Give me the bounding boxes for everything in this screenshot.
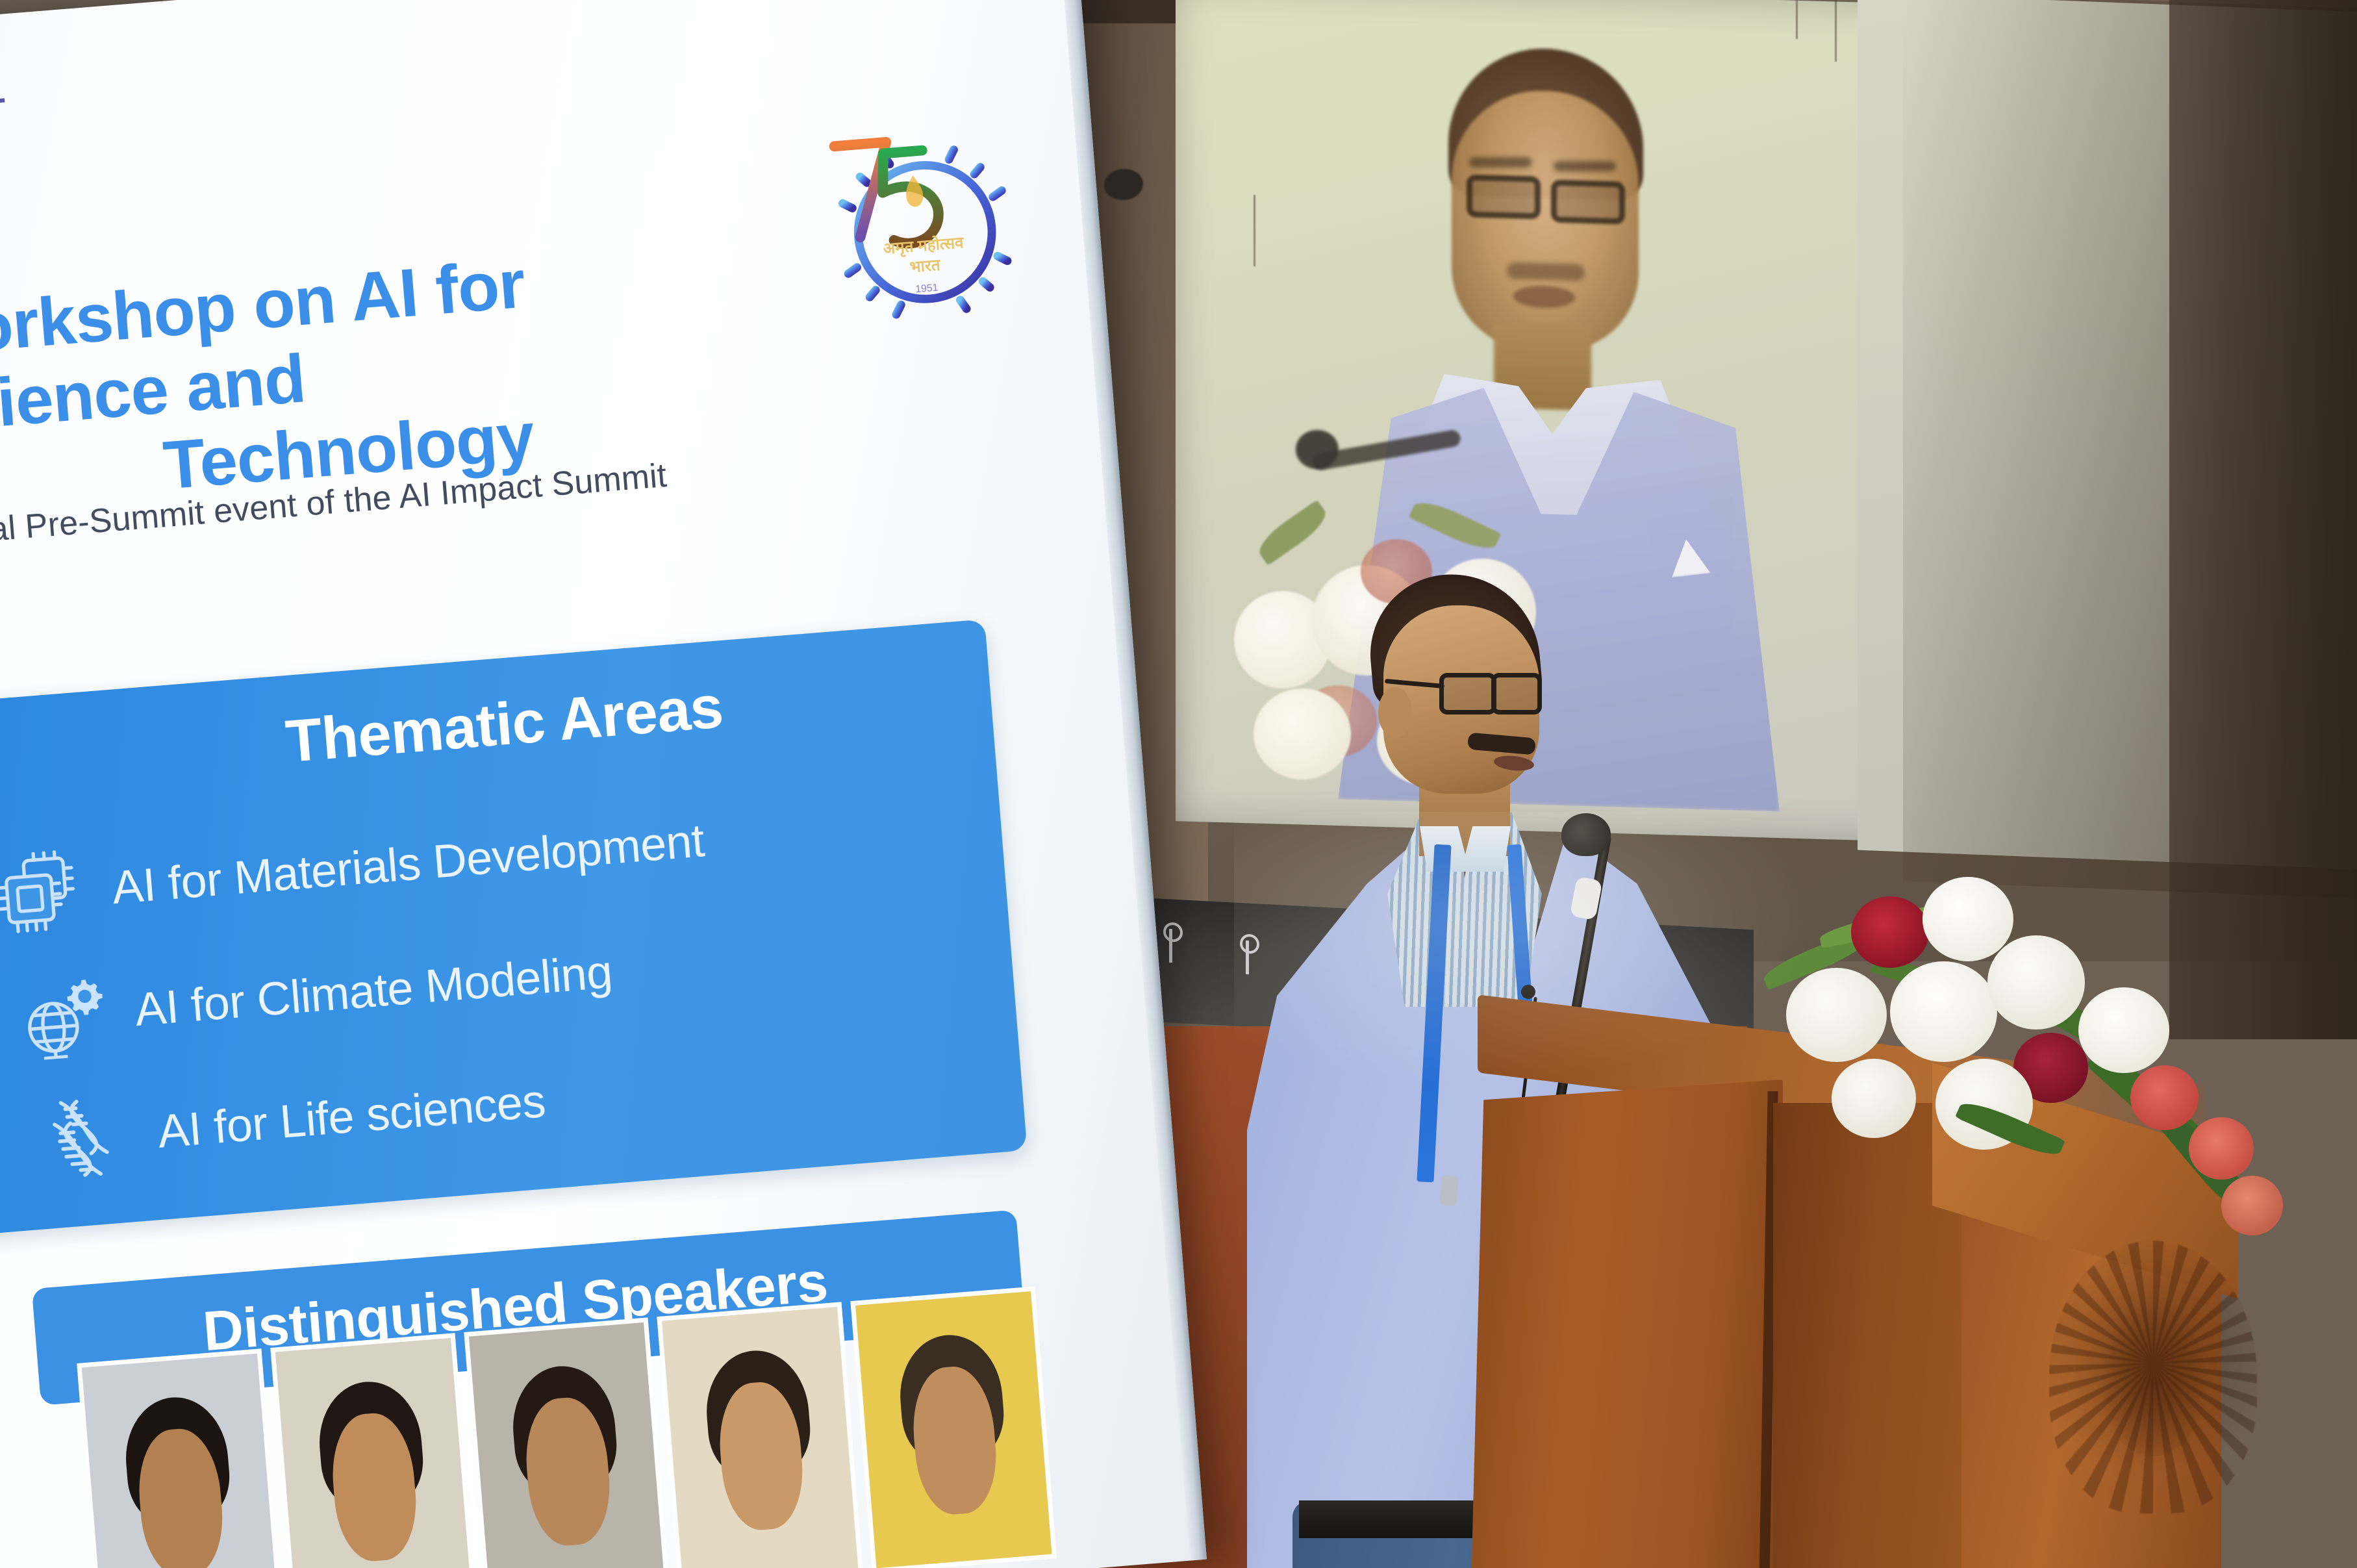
- white-bloom-7: [1832, 1059, 1916, 1138]
- pink-bloom-3: [2221, 1176, 2283, 1235]
- screen-seam-c: [1254, 195, 1255, 266]
- podium-front-left-panel: [1471, 1080, 1783, 1568]
- speaker-photo-1: [77, 1348, 283, 1568]
- logo-year: 1951: [915, 282, 939, 295]
- podium-microphone-head: [1561, 813, 1611, 856]
- skirt-clip-2: [1246, 941, 1249, 974]
- pink-bloom-1: [2130, 1065, 2199, 1130]
- speaker-photo-5: [851, 1286, 1057, 1568]
- projected-glasses-right: [1551, 179, 1625, 224]
- rollup-banner: AI IMPACT SUMMIT सुरक्षित एवं समावेशी सभ…: [0, 0, 1207, 1568]
- podium-carved-emblem-center: [2098, 1294, 2208, 1456]
- thematic-item-life-sciences: AI for Life sciences: [39, 1059, 548, 1183]
- white-bloom-1: [1922, 877, 2013, 961]
- thematic-item-materials: AI for Materials Development: [0, 798, 707, 939]
- thematic-item-label-1: AI for Materials Development: [110, 814, 706, 915]
- thematic-areas-box: Thematic Areas: [0, 619, 1027, 1234]
- photograph-scene: AI IMPACT SUMMIT सुरक्षित एवं समावेशी सभ…: [0, 0, 2357, 1568]
- ais-logo-hindi-line-1: सुरक्षित एवं समावेशी: [0, 127, 142, 170]
- dna-icon: [39, 1093, 130, 1183]
- ai-impact-summit-logo: AI IMPACT SUMMIT सुरक्षित एवं समावेशी सभ…: [0, 0, 147, 240]
- thematic-areas-heading: Thematic Areas: [0, 651, 992, 804]
- thematic-item-label-2: AI for Climate Modeling: [133, 945, 614, 1037]
- speaker-photo-2: [270, 1333, 477, 1568]
- projected-moustache: [1507, 262, 1585, 281]
- presenter-ear: [1378, 687, 1412, 738]
- speaker-photo-4: [657, 1302, 864, 1568]
- anniversary-75-logo: अमृत महोत्सव भारत 1951: [815, 116, 1018, 325]
- white-bloom-4: [1987, 935, 2085, 1030]
- red-rose-1: [1851, 896, 1929, 968]
- screen-seam-b: [1835, 0, 1837, 62]
- logo-hindi-bottom: भारत: [909, 257, 942, 277]
- pink-bloom-2: [2189, 1117, 2254, 1180]
- white-bloom-6: [2078, 987, 2169, 1073]
- lanyard-clip: [1439, 1175, 1458, 1206]
- glasses-lens-right: [1491, 673, 1542, 714]
- globe-gear-icon: [16, 970, 107, 1061]
- projected-glasses-left: [1467, 174, 1541, 219]
- thematic-item-label-3: AI for Life sciences: [156, 1074, 548, 1159]
- flame-icon: [905, 175, 924, 207]
- white-bloom-2: [1786, 968, 1887, 1062]
- white-bloom-3: [1890, 961, 1997, 1062]
- thematic-item-climate: AI for Climate Modeling: [16, 929, 615, 1061]
- glasses-lens-left: [1439, 673, 1496, 714]
- skirt-clip-1: [1169, 929, 1172, 963]
- presenter-glasses: [1439, 673, 1537, 708]
- projected-brow-right: [1554, 161, 1616, 171]
- speaker-photo-3: [464, 1317, 670, 1568]
- chip-icon: [0, 848, 84, 939]
- podium-flower-arrangement: [1741, 870, 2280, 1273]
- projected-brow-left: [1469, 157, 1531, 168]
- screen-seam-a: [1796, 0, 1798, 39]
- lapel-microphone: [1521, 985, 1535, 999]
